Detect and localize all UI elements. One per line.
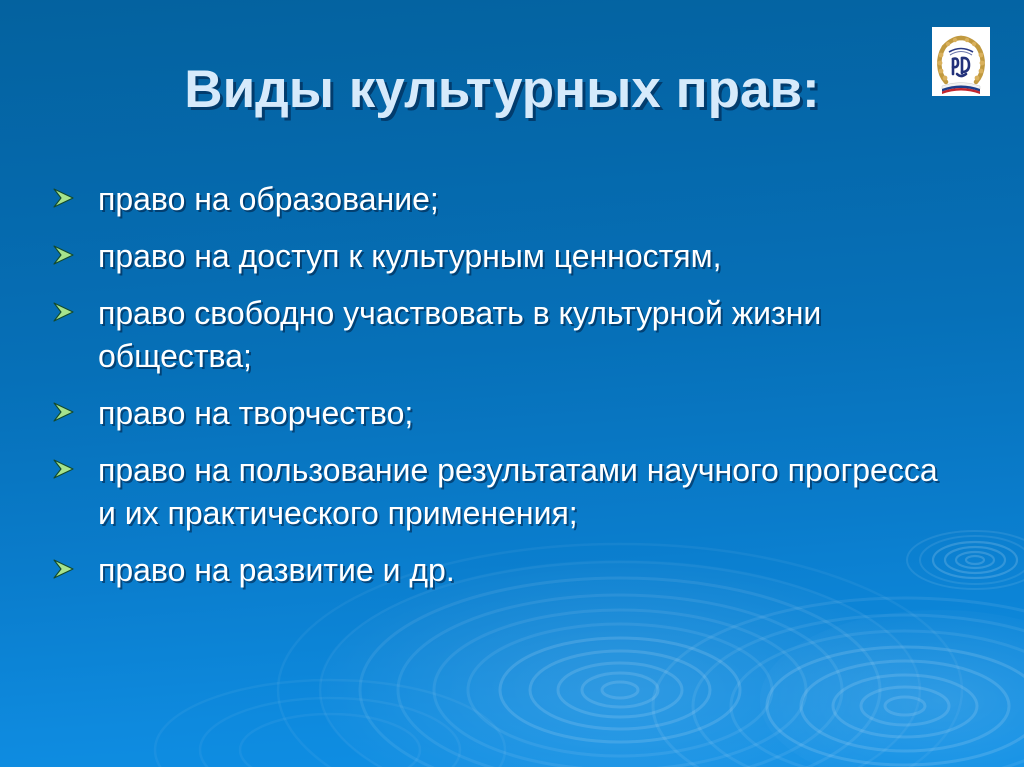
list-item: право на пользование результатами научно… [52,449,952,535]
arrow-bullet-icon [52,292,98,323]
list-item: право свободно участвовать в культурной … [52,292,952,378]
list-item-label: право на развитие и др. [98,549,938,592]
list-item: право на творчество; [52,392,952,435]
list-item: право на развитие и др. [52,549,952,592]
presentation-slide: Виды культурных прав: право на образован… [0,0,1024,767]
arrow-bullet-icon [52,235,98,266]
arrow-bullet-icon [52,549,98,580]
list-item-label: право свободно участвовать в культурной … [98,292,868,378]
list-item-label: право на образование; [98,178,938,221]
slide-title: Виды культурных прав: [0,60,1024,120]
list-item-label: право на творчество; [98,392,938,435]
arrow-bullet-icon [52,392,98,423]
arrow-bullet-icon [52,449,98,480]
bullet-list: право на образование; право на доступ к … [52,178,952,592]
list-item: право на доступ к культурным ценностям, [52,235,952,278]
list-item-label: право на пользование результатами научно… [98,449,952,535]
arrow-bullet-icon [52,178,98,209]
list-item-label: право на доступ к культурным ценностям, [98,235,952,278]
list-item: право на образование; [52,178,952,221]
university-emblem-logo [932,27,990,96]
